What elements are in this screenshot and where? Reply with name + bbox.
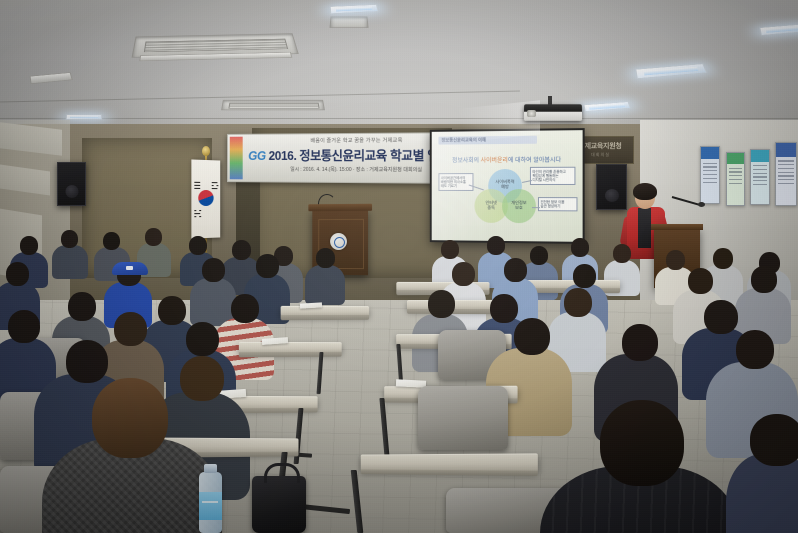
venn-circle-left	[474, 189, 508, 223]
handbag-handle	[264, 463, 300, 483]
ac-grille	[143, 39, 288, 52]
slide-header-bar: 정보통신윤리교육의 이해	[438, 136, 537, 145]
wall-poster-cyan	[750, 149, 770, 205]
venn-circle-top	[488, 169, 522, 203]
bottle-cap	[204, 464, 217, 473]
slide-callout-1: 사이버공간에서의 바람직한 의사소통 태도 기르기	[438, 173, 473, 191]
wall-poster-blue-1	[700, 146, 720, 204]
wall-poster-green	[726, 152, 745, 206]
slide-title-highlight: 사이버윤리	[481, 158, 508, 164]
banner-color-swatch	[230, 137, 243, 180]
wall-speaker-left	[57, 162, 86, 206]
venn-label-left: 인터넷 중독	[476, 200, 506, 211]
water-bottle	[199, 472, 222, 533]
flag-finial	[202, 146, 210, 156]
south-korea-flag	[191, 159, 220, 238]
lectern-top	[308, 204, 372, 211]
presenter-hair	[633, 183, 657, 200]
venn-circle-right	[502, 189, 536, 223]
presenter-microphone-icon	[698, 202, 705, 207]
desk	[361, 453, 538, 471]
chair	[418, 386, 508, 450]
taeguk-symbol	[198, 190, 213, 206]
slide-callout-3: 건전한 정보 이용 습관 형성하기	[538, 197, 578, 211]
slide-header-text: 정보통신윤리교육의 이해	[441, 137, 486, 143]
venn-label-right: 개인정보 보호	[504, 200, 534, 211]
education-office-emblem	[330, 233, 347, 250]
slide-title: 정보사회의 사이버윤리에 대하여 알아봅시다	[432, 155, 583, 165]
ceiling-ac-unit	[221, 100, 325, 110]
ceiling-seam	[0, 118, 798, 119]
cap-logo	[126, 266, 133, 270]
ceiling-ac-unit	[329, 16, 368, 27]
desk	[281, 306, 369, 316]
wall-speaker-right	[596, 164, 627, 210]
presenter-inner-top	[638, 208, 651, 248]
black-handbag	[252, 476, 306, 533]
banner-logo: GG	[248, 149, 265, 163]
presenter-podium-top	[651, 224, 703, 230]
projector-lens	[527, 110, 536, 117]
ac-grille	[228, 103, 319, 108]
wall-poster-blue-2	[775, 142, 797, 206]
slide-title-part-a: 정보사회의	[452, 158, 481, 164]
desk	[239, 342, 342, 353]
slide-title-part-c: 에 대하여 알아봅시다	[508, 158, 561, 164]
slide-callout-2: 타인의 권리를 존중하고 책임있게 행동하는 디지털 시민의식	[530, 167, 576, 186]
bottle-label	[199, 492, 222, 520]
venn-label-top: 사이버폭력 예방	[490, 179, 520, 190]
ceiling-light	[66, 114, 102, 119]
lecture-hall-photo: 거제교육지원청 대 회 의 실 배움이 즐거운 학교 꿈을 가꾸는 거제교육 G…	[0, 0, 798, 533]
projection-screen: 정보통신윤리교육의 이해 정보사회의 사이버윤리에 대하여 알아봅시다 사이버폭…	[430, 128, 585, 244]
